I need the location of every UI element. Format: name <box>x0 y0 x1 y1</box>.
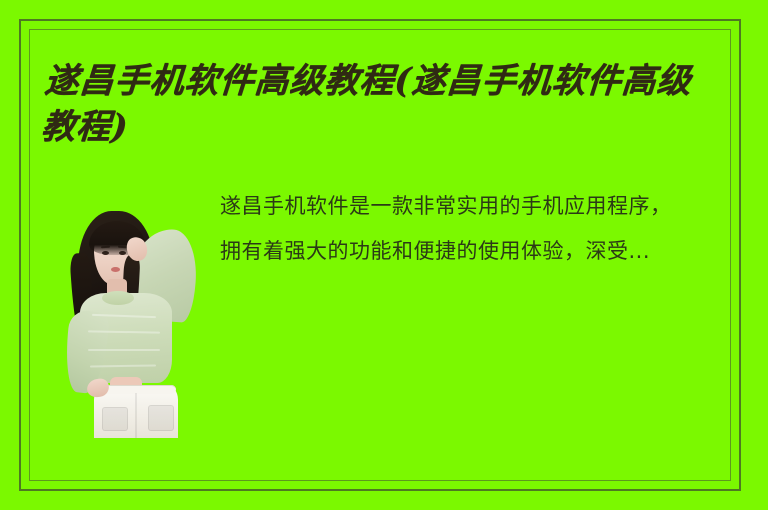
sweater-collar <box>102 291 134 305</box>
cargo-pocket-left <box>102 407 128 431</box>
pants-pleat <box>135 393 137 438</box>
article-summary: 遂昌手机软件是一款非常实用的手机应用程序，拥有着强大的功能和便捷的使用体验，深受… <box>220 184 690 274</box>
article-card: 遂昌手机软件高级教程(遂昌手机软件高级教程) 年轻女性模特，浅绿色针织毛衣，白色… <box>0 0 768 510</box>
model-photo-illustration <box>56 207 214 438</box>
knit-texture-line <box>88 349 160 351</box>
lips <box>111 267 120 272</box>
model-photo: 年轻女性模特，浅绿色针织毛衣，白色工装裤，长发，一只手抬起放在头边 <box>56 207 214 438</box>
cargo-pocket-right <box>148 405 174 431</box>
page-title: 遂昌手机软件高级教程(遂昌手机软件高级教程) <box>40 58 726 150</box>
